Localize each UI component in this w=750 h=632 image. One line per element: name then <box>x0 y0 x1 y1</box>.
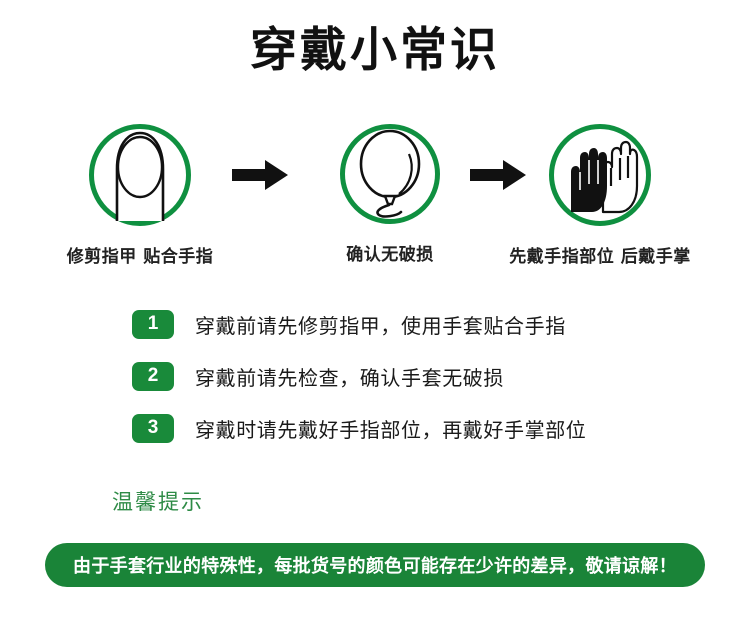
list-item: 1 穿戴前请先修剪指甲，使用手套贴合手指 <box>132 305 692 343</box>
notice-text: 由于手套行业的特殊性，每批货号的颜色可能存在少许的差异，敬请谅解！ <box>73 552 677 578</box>
list-item: 2 穿戴前请先检查，确认手套无破损 <box>132 357 692 395</box>
step-3-label: 先戴手指部位 后戴手掌 <box>490 242 710 267</box>
step-item-3: 先戴手指部位 后戴手掌 <box>490 124 710 267</box>
step-2-label: 确认无破损 <box>310 240 470 265</box>
step-1-label: 修剪指甲 贴合手指 <box>40 242 240 267</box>
page-title: 穿戴小常识 <box>0 24 750 78</box>
step-item-2: 确认无破损 <box>310 124 470 265</box>
tip-text: 穿戴前请先检查，确认手套无破损 <box>195 362 504 391</box>
step-1-circle <box>89 124 191 226</box>
step-2-circle <box>340 124 440 224</box>
steps-row: 修剪指甲 贴合手指 确认无破损 <box>0 124 750 274</box>
list-item: 3 穿戴时请先戴好手指部位，再戴好手掌部位 <box>132 409 692 447</box>
step-3-circle <box>549 124 651 226</box>
tip-number-badge: 1 <box>132 310 174 339</box>
tips-list: 1 穿戴前请先修剪指甲，使用手套贴合手指 2 穿戴前请先检查，确认手套无破损 3… <box>132 305 692 461</box>
tip-number-badge: 2 <box>132 362 174 391</box>
tip-text: 穿戴前请先修剪指甲，使用手套贴合手指 <box>195 310 566 339</box>
tip-number-badge: 3 <box>132 414 174 443</box>
warm-tips-heading: 温馨提示 <box>112 486 204 516</box>
step-item-1: 修剪指甲 贴合手指 <box>40 124 240 267</box>
arrow-right-icon-1 <box>232 160 288 190</box>
notice-banner: 由于手套行业的特殊性，每批货号的颜色可能存在少许的差异，敬请谅解！ <box>45 543 705 587</box>
tip-text: 穿戴时请先戴好手指部位，再戴好手掌部位 <box>195 414 586 443</box>
